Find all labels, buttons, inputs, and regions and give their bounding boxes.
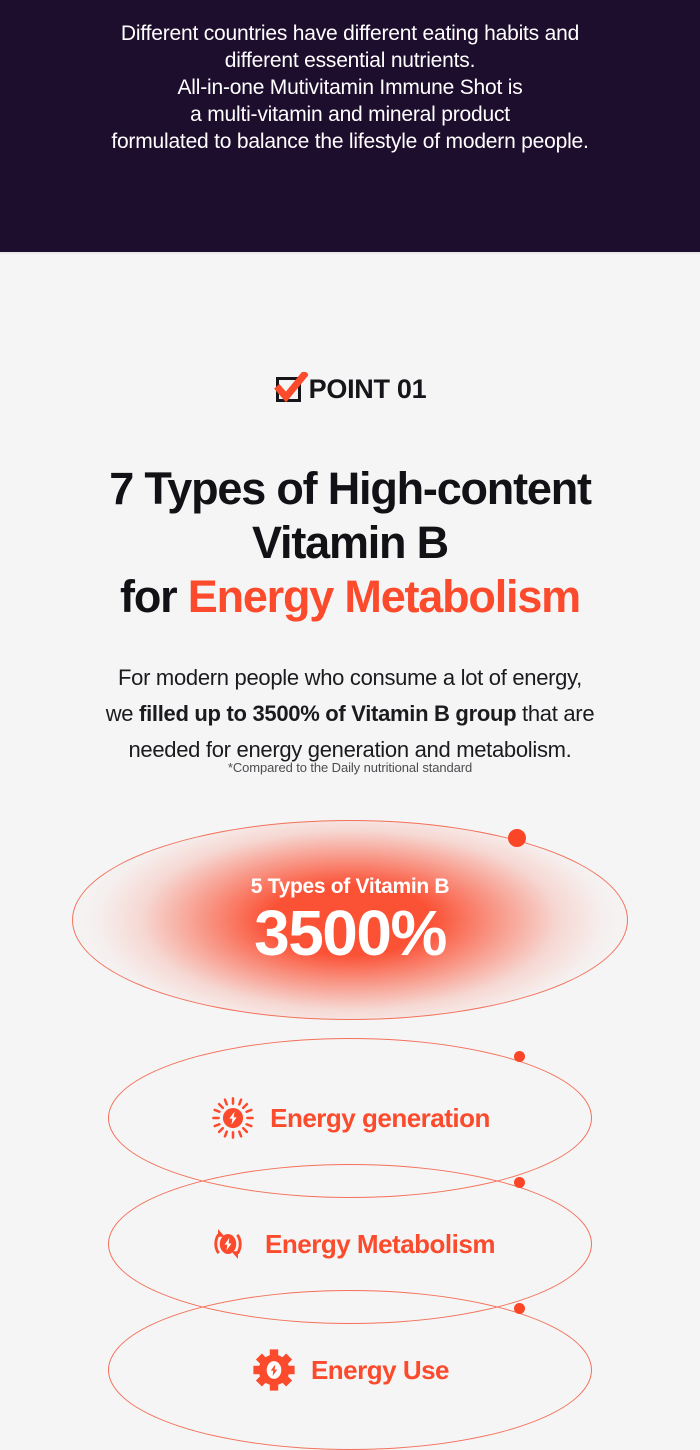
intro-line-4: a multi-vitamin and mineral product bbox=[190, 101, 510, 128]
banner-divider bbox=[0, 252, 700, 254]
feature-label: Energy Use bbox=[311, 1355, 449, 1386]
intro-line-5: formulated to balance the lifestyle of m… bbox=[111, 128, 588, 155]
intro-line-2: different essential nutrients. bbox=[225, 47, 475, 74]
body-line-2-emphasis: filled up to 3500% of Vitamin B group bbox=[139, 701, 516, 726]
body-line-2-suffix: that are bbox=[516, 701, 594, 726]
point-label: POINT 01 bbox=[309, 374, 427, 405]
feature-ellipse-energy-use: Energy Use bbox=[108, 1290, 592, 1450]
feature-label: Energy generation bbox=[270, 1103, 490, 1134]
headline-line-3-accent: Energy Metabolism bbox=[188, 571, 580, 622]
hero-subtitle: 5 Types of Vitamin B bbox=[251, 875, 450, 899]
page-title: 7 Types of High-content Vitamin B for En… bbox=[0, 462, 700, 624]
intro-line-1: Different countries have different eatin… bbox=[121, 20, 579, 47]
headline-line-1: 7 Types of High-content bbox=[109, 463, 591, 514]
hero-text-group: 5 Types of Vitamin B 3500% bbox=[72, 820, 628, 1020]
intro-line-3: All-in-one Mutivitamin Immune Shot is bbox=[177, 74, 522, 101]
checked-checkbox-icon bbox=[274, 372, 308, 406]
hero-stat-ellipse: 5 Types of Vitamin B 3500% bbox=[72, 820, 628, 1020]
footnote: *Compared to the Daily nutritional stand… bbox=[0, 760, 700, 775]
body-line-3: needed for energy generation and metabol… bbox=[129, 737, 572, 762]
sun-burst-bolt-icon bbox=[210, 1095, 256, 1141]
body-line-2-prefix: we bbox=[106, 701, 139, 726]
body-line-1: For modern people who consume a lot of e… bbox=[118, 665, 582, 690]
headline-line-2: Vitamin B bbox=[252, 517, 448, 568]
point-badge: POINT 01 bbox=[0, 372, 700, 406]
gear-bolt-icon bbox=[251, 1347, 297, 1393]
hero-value: 3500% bbox=[254, 900, 446, 966]
intro-banner: Different countries have different eatin… bbox=[0, 0, 700, 252]
feature-content: Energy Use bbox=[108, 1290, 592, 1450]
headline-line-3-prefix: for bbox=[120, 571, 188, 622]
recycle-arrows-bolt-icon bbox=[205, 1221, 251, 1267]
feature-label: Energy Metabolism bbox=[265, 1229, 495, 1260]
body-copy: For modern people who consume a lot of e… bbox=[0, 660, 700, 768]
